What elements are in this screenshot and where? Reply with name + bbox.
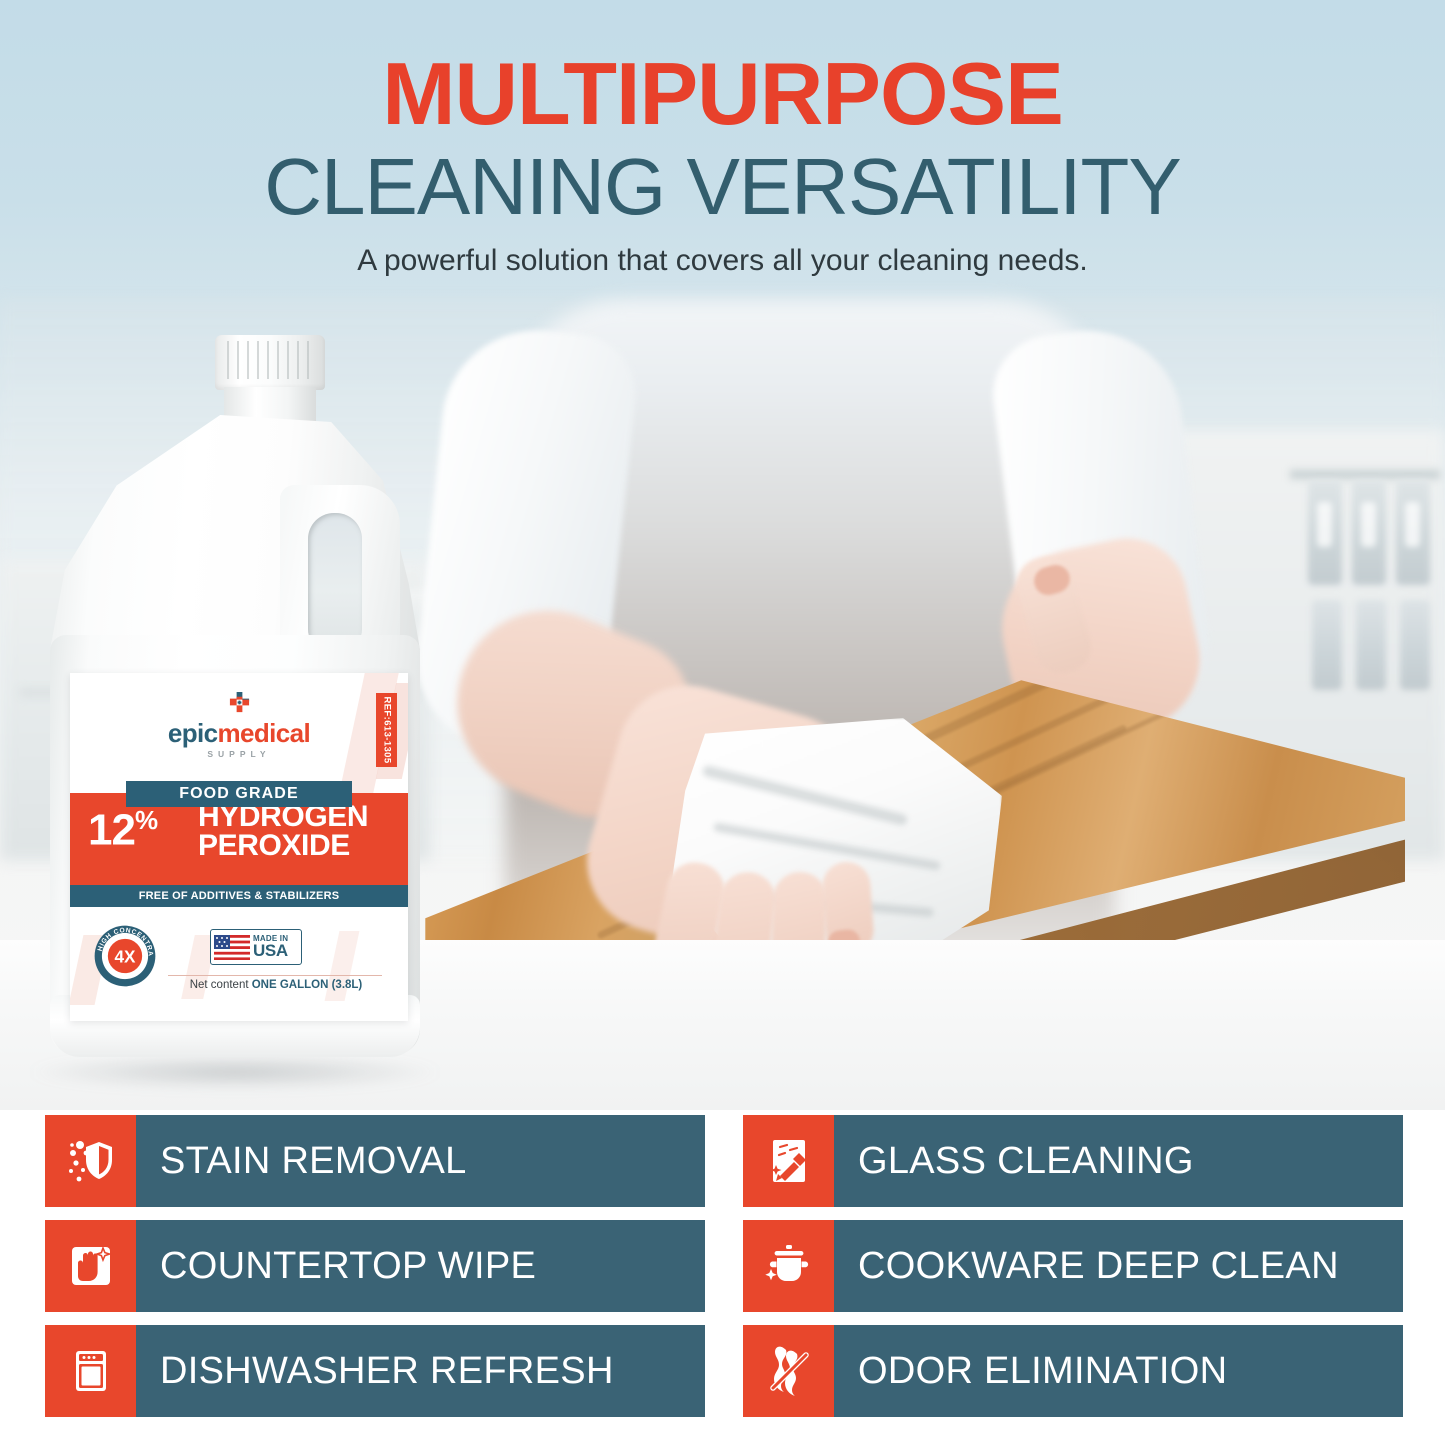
product-infographic: REF:613-1305 epicmedical SUPPLY	[0, 0, 1445, 1445]
no-odor-icon	[743, 1325, 834, 1417]
concentration-row: 12% HYDROGEN PEROXIDE	[70, 801, 408, 879]
feature-label: DISHWASHER REFRESH	[136, 1350, 614, 1393]
feature-label: ODOR ELIMINATION	[834, 1350, 1227, 1393]
food-grade-badge: FOOD GRADE	[126, 781, 352, 807]
feature-item-cookware-deep-clean[interactable]: COOKWARE DEEP CLEAN	[743, 1220, 1403, 1312]
made-in-usa-badge: MADE IN USA	[210, 929, 302, 965]
feature-item-dishwasher-refresh[interactable]: DISHWASHER REFRESH	[45, 1325, 705, 1417]
stain-shield-icon	[45, 1115, 136, 1207]
feature-item-glass-cleaning[interactable]: GLASS CLEANING	[743, 1115, 1403, 1207]
concentration-number: 12	[88, 806, 135, 855]
country-label: USA	[253, 943, 288, 959]
feature-list: STAIN REMOVAL GLASS CLEANING	[45, 1115, 1403, 1417]
origin-text: MADE IN USA	[253, 935, 288, 959]
percent-symbol: %	[135, 805, 157, 835]
spice-jar	[1396, 480, 1430, 585]
brand-epic: epic	[168, 718, 218, 748]
feature-label: COUNTERTOP WIPE	[136, 1245, 536, 1288]
spice-shelf	[1290, 470, 1440, 479]
net-content-value: ONE GALLON (3.8L)	[252, 979, 363, 991]
headline-secondary: CLEANING VERSATILITY	[0, 144, 1445, 230]
brand-name: epicmedical	[70, 720, 408, 746]
feature-item-countertop-wipe[interactable]: COUNTERTOP WIPE	[45, 1220, 705, 1312]
spice-jar	[1308, 480, 1342, 585]
brand-medical: medical	[218, 718, 311, 748]
feature-label: GLASS CLEANING	[834, 1140, 1194, 1183]
chemical-line-1: HYDROGEN	[198, 803, 368, 832]
wiping-hand-icon	[45, 1220, 136, 1312]
feature-label: COOKWARE DEEP CLEAN	[834, 1245, 1339, 1288]
net-content: Net content ONE GALLON (3.8L)	[166, 979, 386, 991]
dishwasher-icon	[45, 1325, 136, 1417]
squeegee-window-icon	[743, 1115, 834, 1207]
feature-item-odor-elimination[interactable]: ODOR ELIMINATION	[743, 1325, 1403, 1417]
brand-logo: epicmedical SUPPLY	[70, 691, 408, 759]
concentration-badge: HIGH CONCENTRATION FORMULA 4X	[92, 923, 158, 989]
us-flag-icon	[214, 935, 250, 960]
feature-item-stain-removal[interactable]: STAIN REMOVAL	[45, 1115, 705, 1207]
additives-note: FREE OF ADDITIVES & STABILIZERS	[70, 885, 408, 907]
headline-subtitle: A powerful solution that covers all your…	[0, 244, 1445, 278]
svg-text:4X: 4X	[115, 947, 137, 967]
product-bottle: REF:613-1305 epicmedical SUPPLY	[40, 335, 440, 1075]
net-divider	[168, 975, 382, 976]
handle-opening	[308, 513, 362, 655]
headline-block: MULTIPURPOSE CLEANING VERSATILITY A powe…	[0, 50, 1445, 278]
headline-primary: MULTIPURPOSE	[0, 50, 1445, 138]
net-content-prefix: Net content	[190, 979, 252, 991]
chemical-name: HYDROGEN PEROXIDE	[198, 803, 368, 861]
cooking-pot-icon	[743, 1220, 834, 1312]
brand-tagline: SUPPLY	[70, 749, 408, 759]
medical-cross-icon	[228, 691, 251, 714]
feature-label: STAIN REMOVAL	[136, 1140, 467, 1183]
bottle-neck	[224, 387, 316, 421]
product-label: REF:613-1305 epicmedical SUPPLY	[70, 673, 408, 1021]
chemical-line-2: PEROXIDE	[198, 832, 368, 861]
bottle-cap	[215, 335, 325, 390]
concentration-value: 12%	[88, 807, 157, 853]
spice-jar	[1352, 480, 1386, 585]
